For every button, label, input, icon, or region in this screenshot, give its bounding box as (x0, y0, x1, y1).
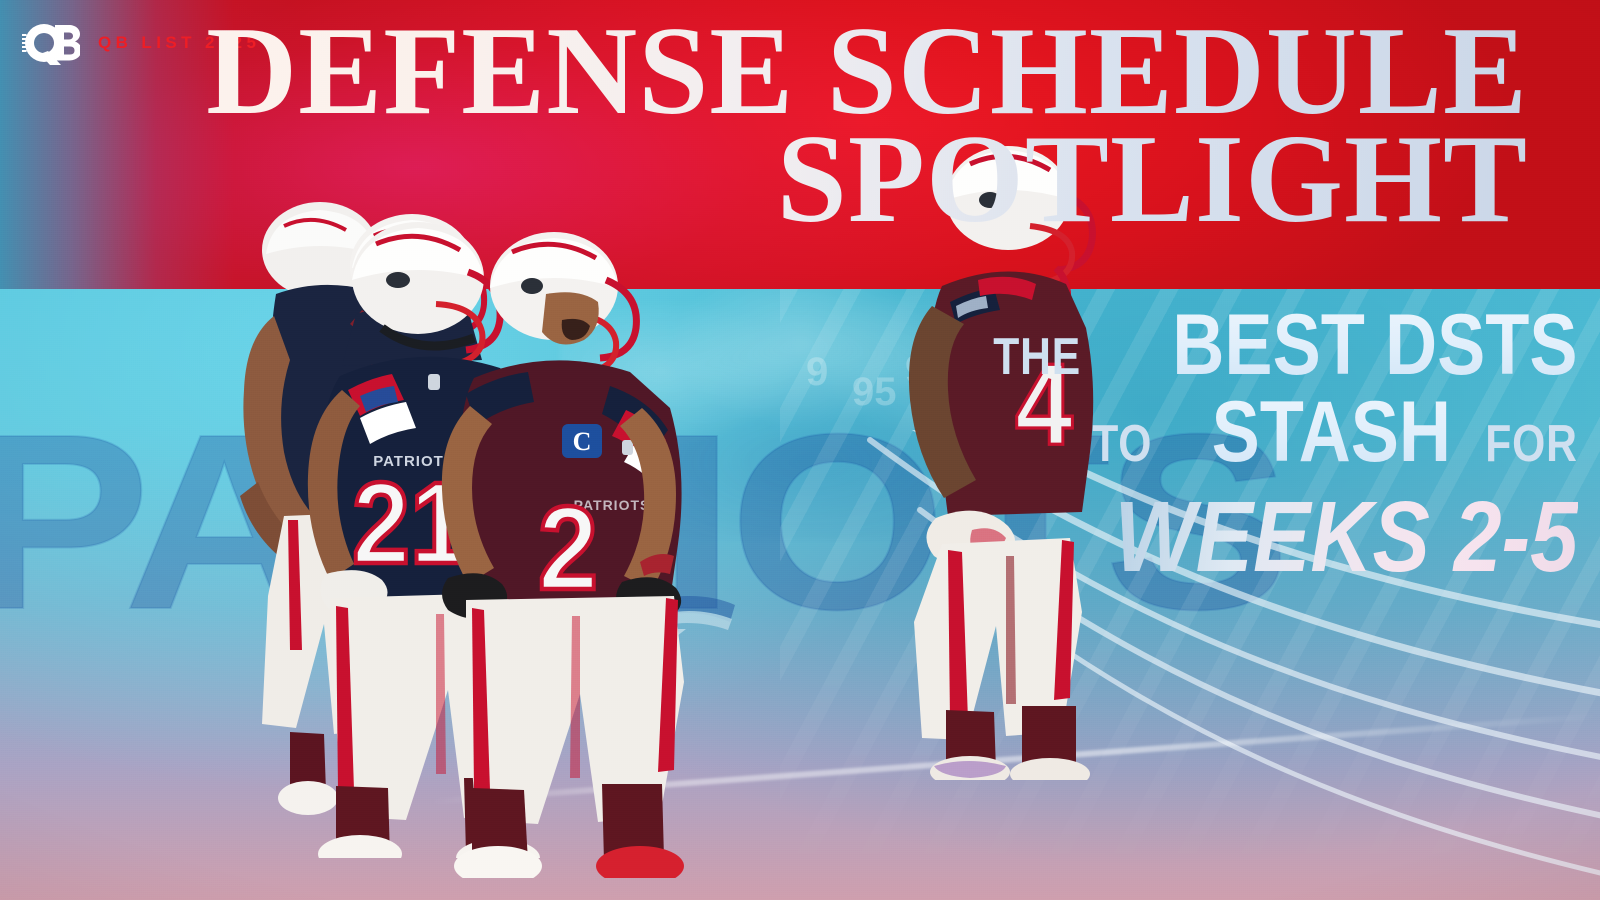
page-title: DEFENSE SCHEDULE SPOTLIGHT (0, 18, 1528, 235)
promo-graphic: PATRIOTS 9 95 9 (0, 0, 1600, 900)
subheadline-row-2: TO STASH FOR (1038, 383, 1578, 482)
svg-text:C: C (573, 427, 592, 456)
subheadline: THE BEST DSTs TO STASH FOR WEEKS 2-5 (1038, 296, 1578, 595)
title-line-2: SPOTLIGHT (0, 126, 1528, 234)
subheadline-row-1: THE BEST DSTs (1038, 296, 1578, 395)
subhead-best-dsts: BEST DSTs (1173, 296, 1578, 395)
subhead-weeks-range: WEEKS 2-5 (1114, 480, 1578, 595)
svg-text:2: 2 (538, 482, 598, 615)
subhead-stash: STASH (1212, 383, 1451, 482)
subhead-for: FOR (1486, 414, 1578, 474)
subhead-to: TO (1092, 414, 1152, 474)
player-captain: C PATRIOTS 2 (426, 228, 736, 878)
subhead-the: THE (994, 327, 1082, 387)
